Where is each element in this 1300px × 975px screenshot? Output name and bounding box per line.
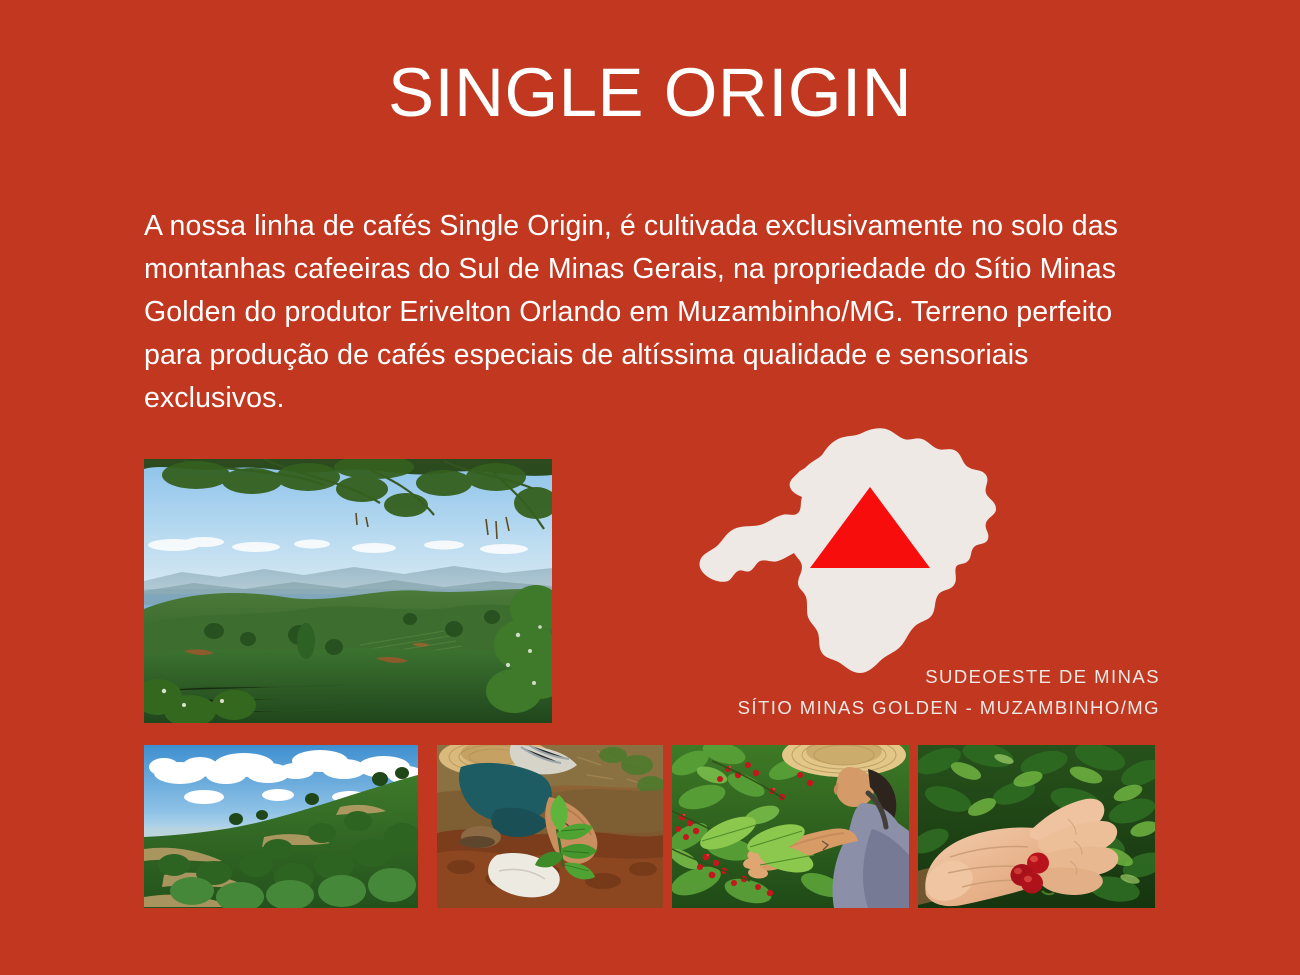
photo-thumbnail-row [144,745,1155,908]
coffee-farm-landscape-photo [144,459,552,723]
planting-seedling-photo [437,745,663,908]
minas-gerais-map-icon [690,425,1000,675]
coffee-cherries-in-hand-photo [918,745,1155,908]
coffee-rows-hillside-photo [144,745,418,908]
map-caption-farm: SÍTIO MINAS GOLDEN - MUZAMBINHO/MG [690,692,1160,723]
minas-gerais-map-block: SUDEOESTE DE MINAS SÍTIO MINAS GOLDEN - … [690,425,1160,725]
map-captions: SUDEOESTE DE MINAS SÍTIO MINAS GOLDEN - … [690,661,1160,723]
single-origin-slide: SINGLE ORIGIN A nossa linha de cafés Sin… [0,0,1300,975]
harvesting-cherries-photo [672,745,909,908]
map-caption-region: SUDEOESTE DE MINAS [690,661,1160,692]
page-title: SINGLE ORIGIN [0,58,1300,127]
intro-paragraph: A nossa linha de cafés Single Origin, é … [144,205,1159,420]
